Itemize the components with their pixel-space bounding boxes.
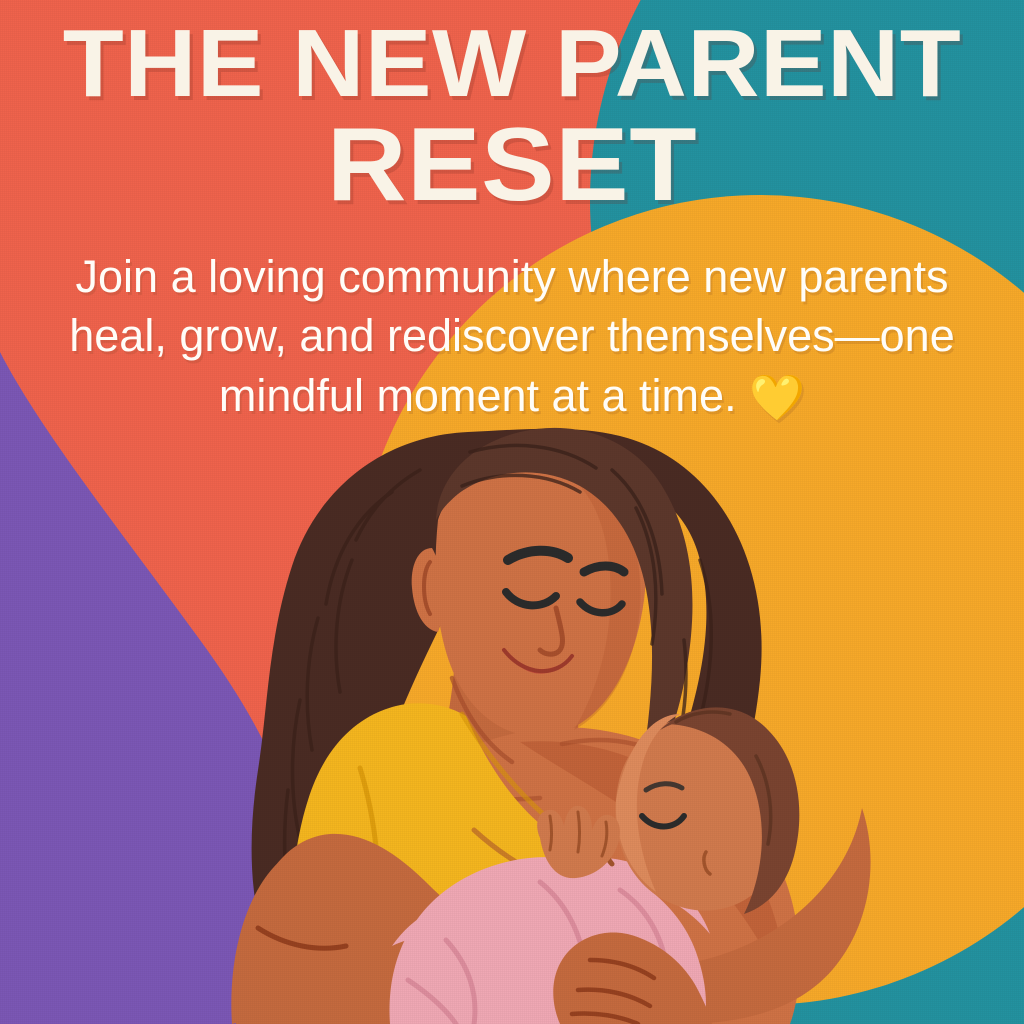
headline-line-2: RESET [0, 116, 1024, 216]
headline-block: THE NEW PARENT RESET [0, 18, 1024, 216]
subtitle-block: Join a loving community where new parent… [62, 247, 962, 425]
subtitle-line-2: heal, grow, and rediscover themselves—on… [62, 306, 962, 365]
headline-line-1: THE NEW PARENT [0, 18, 1024, 110]
yellow-heart-emoji: 💛 [749, 368, 805, 427]
subtitle-line-1: Join a loving community where new parent… [62, 247, 962, 306]
poster-canvas: THE NEW PARENT RESET Join a loving commu… [0, 0, 1024, 1024]
text-layer: THE NEW PARENT RESET Join a loving commu… [0, 0, 1024, 1024]
subtitle-line-3: mindful moment at a time. [219, 370, 737, 421]
subtitle-line-3-wrap: mindful moment at a time. 💛 [62, 366, 962, 425]
